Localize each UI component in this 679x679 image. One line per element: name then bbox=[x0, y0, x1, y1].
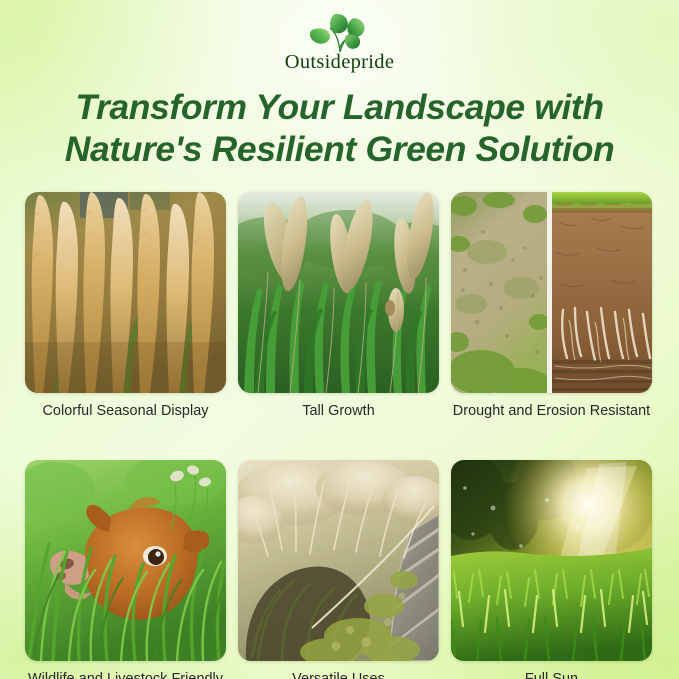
feature-image-colorful-seasonal-display bbox=[25, 192, 226, 393]
feature-card-versatile-uses: Versatile Uses bbox=[238, 460, 439, 679]
poster-canvas: Outsidepride Transform Your Landscape wi… bbox=[0, 0, 679, 679]
page-title: Transform Your Landscape with Nature's R… bbox=[34, 86, 645, 170]
feature-card-full-sun: Full Sun bbox=[451, 460, 652, 679]
sprout-leaves-icon bbox=[302, 8, 378, 54]
headline-line-1: Transform Your Landscape with bbox=[75, 87, 603, 127]
feature-card-drought-erosion-resistant: Drought and Erosion Resistant bbox=[451, 192, 652, 420]
feature-caption: Wildlife and Livestock Friendly bbox=[25, 670, 226, 679]
feature-image-wildlife-livestock-friendly bbox=[25, 460, 226, 661]
feature-card-wildlife-livestock-friendly: Wildlife and Livestock Friendly bbox=[25, 460, 226, 679]
feature-caption: Colorful Seasonal Display bbox=[25, 402, 226, 420]
feature-card-tall-growth: Tall Growth bbox=[238, 192, 439, 420]
feature-caption: Versatile Uses bbox=[238, 670, 439, 679]
feature-caption: Full Sun bbox=[451, 670, 652, 679]
feature-card-colorful-seasonal-display: Colorful Seasonal Display bbox=[25, 192, 226, 420]
feature-image-versatile-uses bbox=[238, 460, 439, 661]
feature-caption: Drought and Erosion Resistant bbox=[451, 402, 652, 420]
headline-line-2: Nature's Resilient Green Solution bbox=[34, 128, 645, 170]
feature-image-full-sun bbox=[451, 460, 652, 661]
brand-header: Outsidepride bbox=[0, 8, 679, 74]
brand-name: Outsidepride bbox=[285, 51, 395, 74]
feature-image-drought-erosion-resistant bbox=[451, 192, 652, 393]
feature-image-tall-growth bbox=[238, 192, 439, 393]
feature-caption: Tall Growth bbox=[238, 402, 439, 420]
feature-grid: Colorful Seasonal Display bbox=[25, 192, 654, 679]
